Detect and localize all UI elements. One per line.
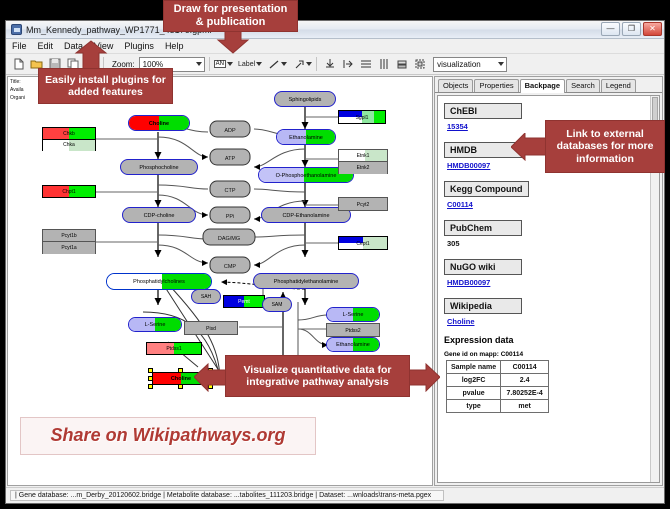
gene-box-etnk[interactable]: Etnk1 Etnk2 — [338, 149, 388, 174]
gene-label: Etnk1 — [339, 150, 387, 162]
toolbar-separator — [209, 57, 210, 71]
gene-label: Pcyt1a — [43, 242, 95, 254]
callout-links: Link to external databases for more info… — [545, 120, 665, 173]
table-cell-value: met — [501, 400, 549, 413]
callout-plugins: Easily install plugins for added feature… — [38, 68, 173, 104]
gene-label: Ptdss1 — [147, 343, 201, 355]
gene-label: Cept1 — [339, 237, 387, 250]
panel-tab-strip: Objects Properties Backpage Search Legen… — [435, 77, 662, 93]
gene-pemt[interactable]: Pemt — [223, 295, 265, 308]
tab-objects[interactable]: Objects — [438, 79, 473, 92]
table-row: type met — [447, 400, 549, 413]
node-label: L-Serine — [129, 318, 181, 332]
svg-text:ADP: ADP — [224, 128, 236, 134]
gene-etnk1[interactable]: Etnk1 — [339, 150, 387, 162]
svg-text:ATP: ATP — [225, 156, 236, 162]
node-label: Sphingolipids — [275, 92, 335, 108]
window-controls: — ❐ ✕ — [601, 22, 662, 36]
gene-cept1[interactable]: Cept1 — [338, 236, 388, 250]
line-tool[interactable] — [269, 59, 287, 70]
chevron-down-icon — [256, 62, 262, 66]
cofactor-shapes: ADP ATP CTP PPi DAG/MG CMP — [203, 121, 255, 273]
backpage-header-nugo: NuGO wiki — [444, 259, 522, 275]
metabolite-sam[interactable]: SAM — [262, 297, 292, 312]
group-icon[interactable] — [411, 56, 428, 73]
gene-pcyt1b[interactable]: Pcyt1b — [43, 230, 95, 242]
table-cell-key: type — [447, 400, 501, 413]
metabolite-phosphatidylcholines[interactable]: Phosphatidylcholines — [106, 273, 212, 290]
selection-handle[interactable] — [178, 384, 183, 389]
status-text: | Gene database: ...m_Derby_20120602.bri… — [10, 490, 444, 501]
selection-handle[interactable] — [148, 384, 153, 389]
gene-pcyt1a[interactable]: Pcyt1a — [43, 242, 95, 254]
node-label: L-Serine — [327, 308, 379, 322]
chevron-down-icon — [281, 62, 287, 66]
datanode-tool-label: AN — [214, 60, 226, 68]
distribute-vertical-icon[interactable] — [357, 56, 374, 73]
table-cell-key: Sample name — [447, 361, 501, 374]
metabolite-l-serine-right[interactable]: L-Serine — [326, 307, 380, 322]
metabolite-sphingolipids[interactable]: Sphingolipids — [274, 91, 336, 107]
node-label: Ethanolamine — [327, 338, 379, 352]
metabolite-cdp-choline[interactable]: CDP-choline — [122, 207, 196, 223]
backpage-link-kegg[interactable]: C00114 — [447, 200, 659, 209]
backpage-value-pubchem: 305 — [447, 239, 659, 248]
table-cell-value: 2.4 — [501, 374, 549, 387]
tab-search[interactable]: Search — [566, 79, 600, 92]
stack-icon[interactable] — [393, 56, 410, 73]
metabolite-l-serine-left[interactable]: L-Serine — [128, 317, 182, 332]
gene-label: Etnk2 — [339, 162, 387, 174]
backpage-header-chebi: ChEBI — [444, 103, 522, 119]
table-cell-value: 7.80252E-4 — [501, 387, 549, 400]
metabolite-choline-top[interactable]: Choline — [128, 115, 190, 131]
gene-ptdss1[interactable]: Ptdss1 — [146, 342, 202, 355]
callout-arrow-links — [511, 133, 549, 161]
table-row: log2FC 2.4 — [447, 374, 549, 387]
gene-chka[interactable]: Chka — [43, 140, 95, 151]
expression-data-table: Sample name C00114 log2FC 2.4 pvalue 7.8… — [446, 360, 549, 413]
table-row: pvalue 7.80252E-4 — [447, 387, 549, 400]
status-bar: | Gene database: ...m_Derby_20120602.bri… — [6, 487, 664, 503]
gene-label: Pemt — [224, 296, 264, 308]
gene-pisd[interactable]: Pisd — [184, 321, 238, 335]
menu-file[interactable]: File — [11, 41, 28, 51]
svg-text:PPi: PPi — [226, 214, 235, 220]
distribute-horizontal-icon[interactable] — [375, 56, 392, 73]
gene-chpt1[interactable]: Chpt1 — [42, 185, 96, 198]
table-row: Sample name C00114 — [447, 361, 549, 374]
gene-etnk2[interactable]: Etnk2 — [339, 162, 387, 174]
chevron-down-icon — [227, 62, 233, 66]
backpage-link-nugo[interactable]: HMDB00097 — [447, 278, 659, 287]
backpage-header-pubchem: PubChem — [444, 220, 522, 236]
gene-label: Pcyt2 — [339, 198, 387, 212]
node-label: Ethanolamine — [277, 130, 335, 145]
table-cell-value: C00114 — [501, 361, 549, 374]
gene-ptdss2[interactable]: Ptdss2 — [326, 323, 380, 337]
label-tool-label: Label — [238, 61, 255, 68]
selection-handle[interactable] — [148, 376, 153, 381]
backpage-header-wikipedia: Wikipedia — [444, 298, 522, 314]
metabolite-sah[interactable]: SAH — [191, 289, 221, 304]
tab-backpage[interactable]: Backpage — [520, 79, 565, 93]
gene-label: Chpt1 — [43, 186, 95, 198]
node-label: SAM — [263, 298, 291, 313]
datanode-tool[interactable]: AN — [214, 60, 233, 68]
menu-edit[interactable]: Edit — [37, 41, 55, 51]
gene-box-pcyt1[interactable]: Pcyt1b Pcyt1a — [42, 229, 96, 254]
gene-label: Sgpl1 — [339, 111, 385, 124]
tab-legend[interactable]: Legend — [601, 79, 636, 92]
new-icon[interactable] — [10, 56, 27, 73]
receptor-tool[interactable] — [294, 59, 312, 70]
selection-handle[interactable] — [178, 368, 183, 373]
selection-handle[interactable] — [148, 368, 153, 373]
screenshot-root: Mm_Kennedy_pathway_WP1771_45176.gpml — ❐… — [0, 0, 670, 509]
node-label: CDP-choline — [123, 208, 195, 224]
gene-label: Ptdss2 — [327, 324, 379, 338]
menu-plugins[interactable]: Plugins — [123, 41, 155, 51]
close-button[interactable]: ✕ — [643, 22, 662, 36]
callout-arrow-quant-right — [406, 362, 440, 392]
maximize-button[interactable]: ❐ — [622, 22, 641, 36]
gene-label: Chkb — [43, 128, 95, 140]
menu-help[interactable]: Help — [164, 41, 185, 51]
gene-pcyt2[interactable]: Pcyt2 — [338, 197, 388, 211]
callout-arrow-quant-left — [194, 362, 228, 392]
gene-label: Pcyt1b — [43, 230, 95, 242]
gene-sgpl1[interactable]: Sgpl1 — [338, 110, 386, 124]
backpage-header-kegg: Kegg Compound — [444, 181, 529, 197]
chevron-down-icon — [196, 62, 202, 66]
metabolite-ethanolamine-bottom[interactable]: Ethanolamine — [326, 337, 380, 352]
pathvisio-icon — [11, 24, 22, 35]
align-left-icon[interactable] — [339, 56, 356, 73]
node-label: Phosphatidylethanolamine — [254, 274, 358, 290]
svg-text:DAG/MG: DAG/MG — [218, 236, 240, 242]
visualization-combo[interactable]: visualization — [433, 57, 507, 72]
visualization-value: visualization — [437, 60, 481, 69]
gene-box-chk[interactable]: Chkb Chka — [42, 127, 96, 151]
svg-text:CMP: CMP — [224, 264, 237, 270]
gene-chkb[interactable]: Chkb — [43, 128, 95, 140]
tab-properties[interactable]: Properties — [474, 79, 518, 92]
node-label: Phosphocholine — [121, 160, 197, 176]
backpage-link-wikipedia[interactable]: Choline — [447, 317, 659, 326]
node-label: SAH — [192, 290, 220, 305]
callout-quantitative: Visualize quantitative data for integrat… — [225, 355, 410, 397]
label-tool[interactable]: Label — [238, 61, 262, 68]
node-label: Phosphatidylcholines — [107, 274, 211, 290]
metabolite-phosphocholine[interactable]: Phosphocholine — [120, 159, 198, 175]
line-icon — [269, 59, 280, 70]
receptor-icon — [294, 59, 305, 70]
table-cell-key: pvalue — [447, 387, 501, 400]
node-label: CDP-Ethanolamine — [262, 208, 350, 224]
metabolite-phosphatidylethanolamine[interactable]: Phosphatidylethanolamine — [253, 273, 359, 289]
title-bar: Mm_Kennedy_pathway_WP1771_45176.gpml — ❐… — [6, 21, 664, 39]
gene-label: Pisd — [185, 322, 237, 336]
node-label: Choline — [129, 116, 189, 131]
toolbar-separator — [316, 57, 317, 71]
align-top-icon[interactable] — [321, 56, 338, 73]
chevron-down-icon — [306, 62, 312, 66]
metabolite-ethanolamine-top[interactable]: Ethanolamine — [276, 129, 336, 145]
svg-text:CTP: CTP — [225, 188, 236, 194]
expression-data-title: Expression data — [444, 335, 659, 345]
gene-id-on-mapp: Gene id on mapp: C00114 — [444, 351, 659, 358]
table-cell-key: log2FC — [447, 374, 501, 387]
gene-label: Chka — [43, 140, 95, 151]
callout-publication: Draw for presentation & publication — [163, 0, 298, 32]
callout-share: Share on Wikipathways.org — [20, 417, 316, 455]
minimize-button[interactable]: — — [601, 22, 620, 36]
chevron-down-icon — [498, 62, 504, 66]
